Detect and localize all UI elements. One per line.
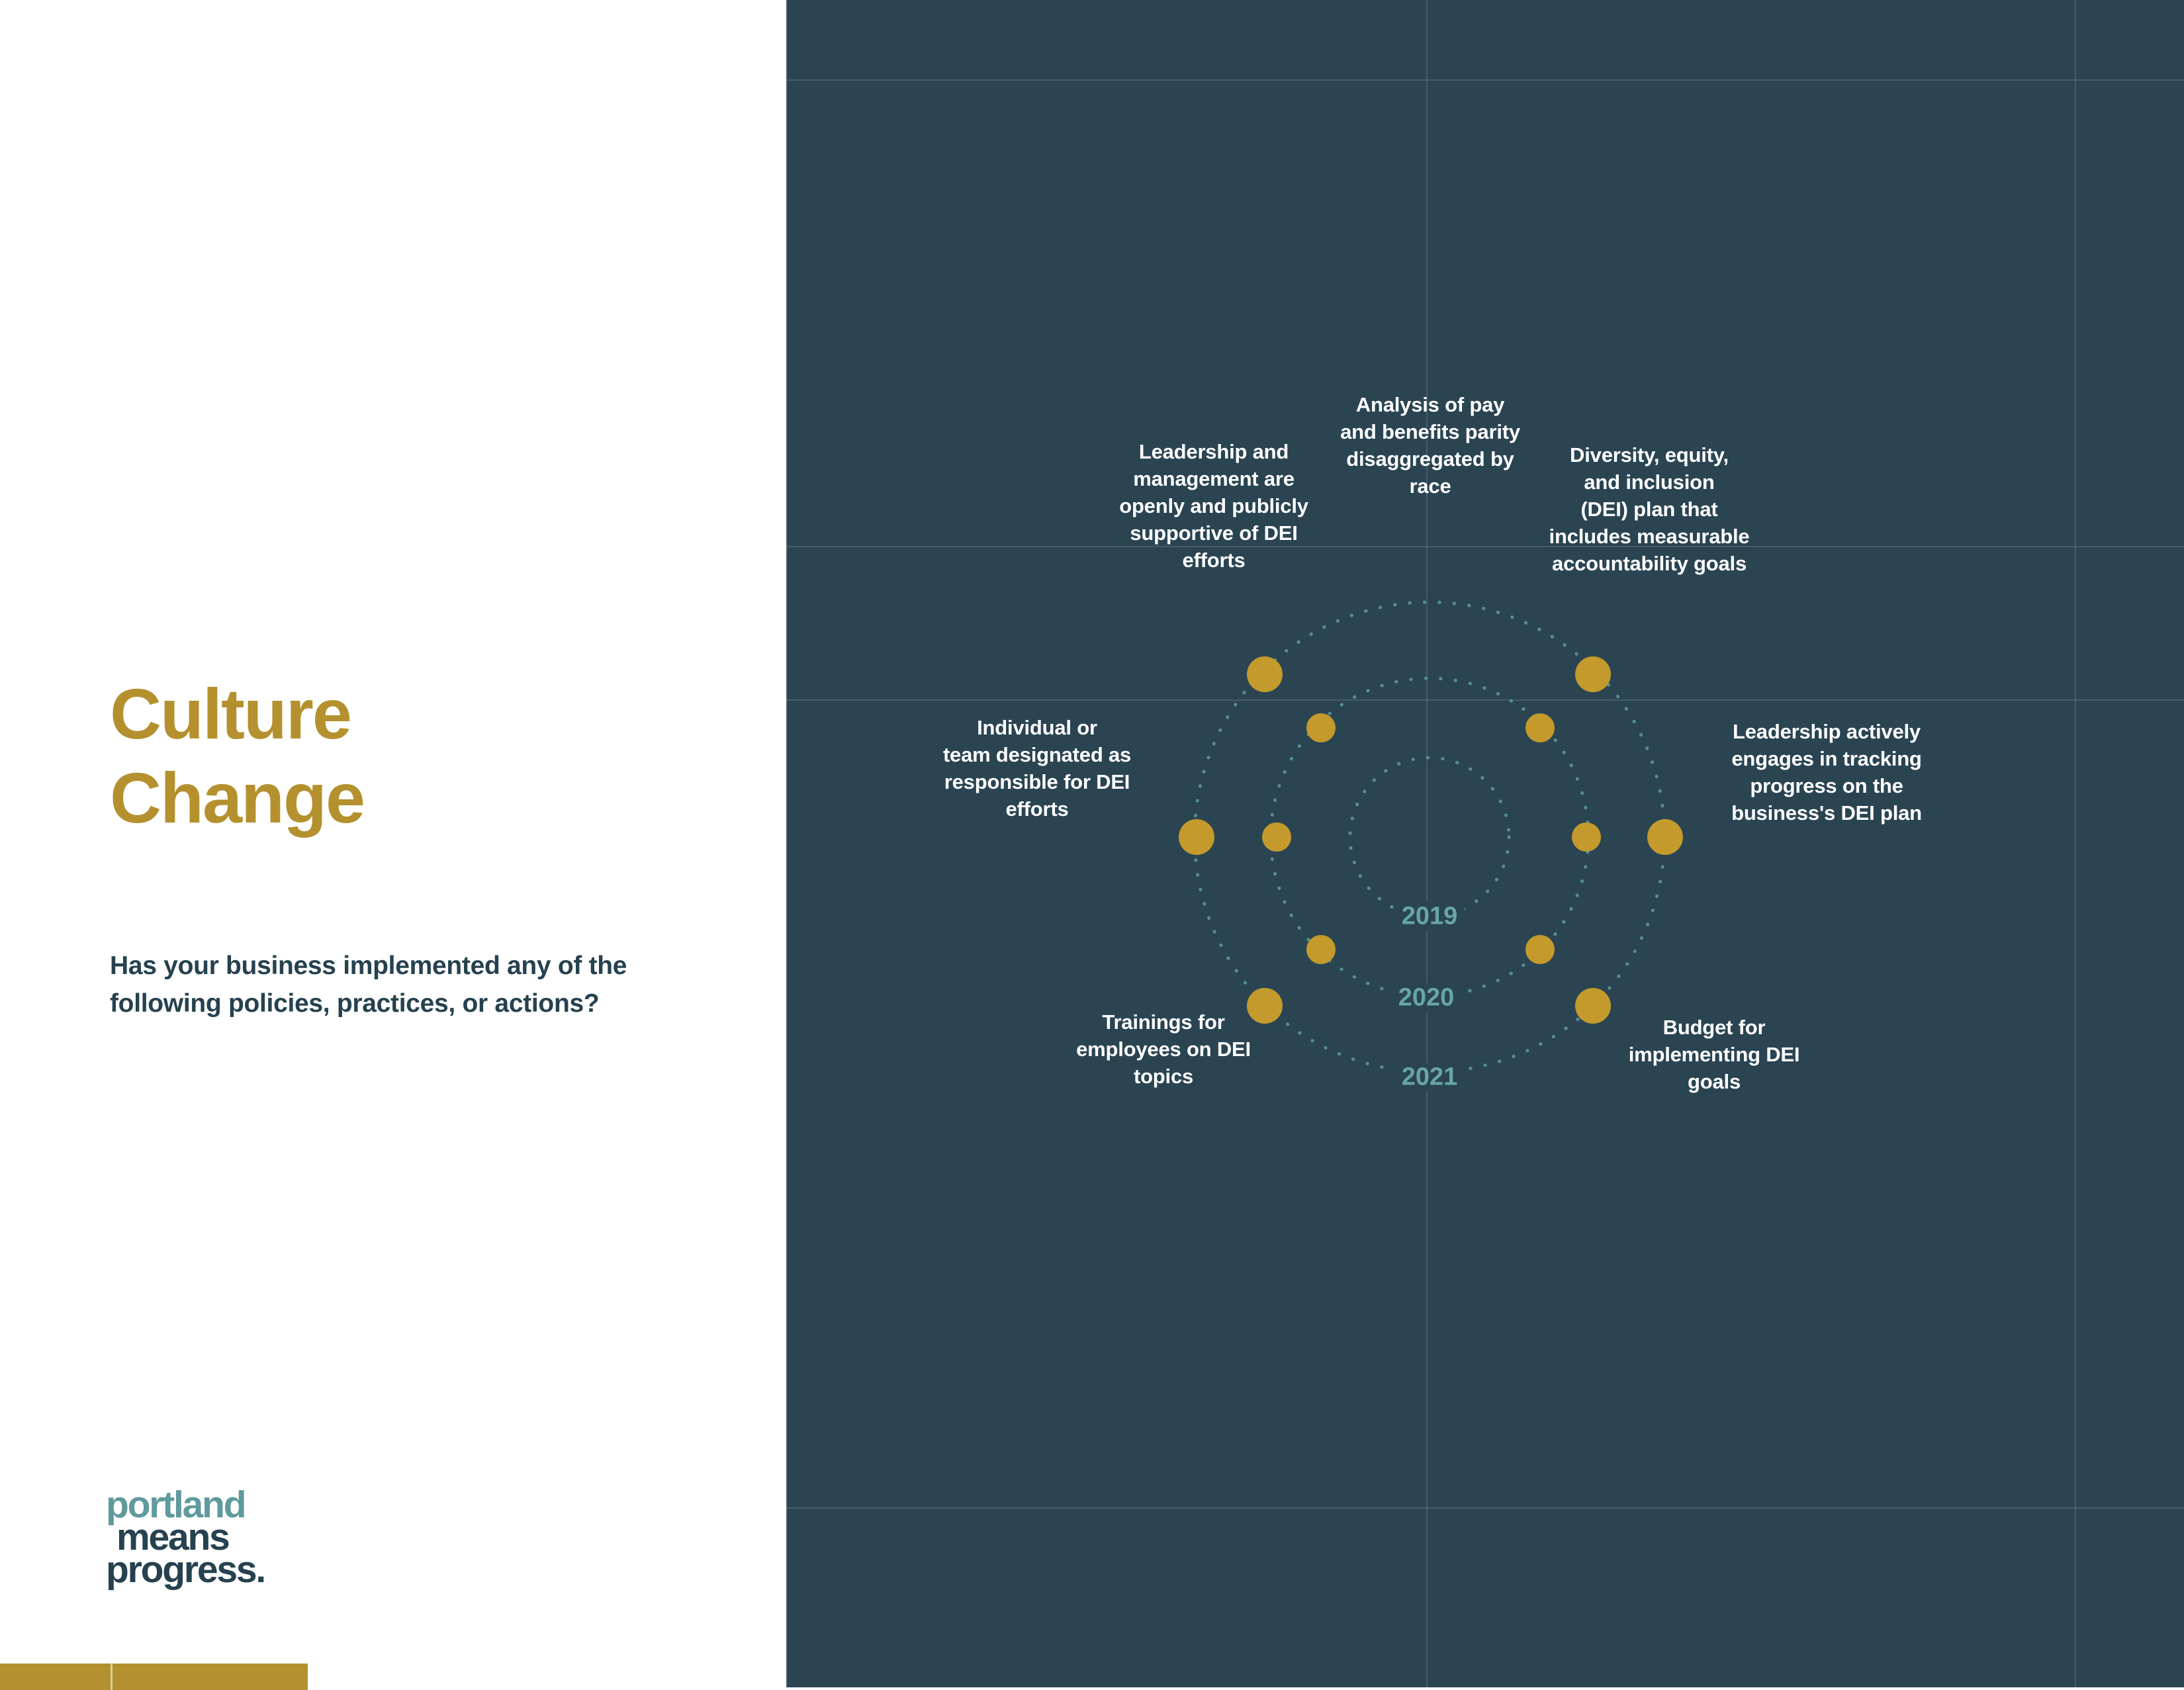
radar-axis-label-line: topics (1044, 1063, 1283, 1090)
radar-axis-label-line: includes measurable (1510, 523, 1788, 551)
radar-axis-label-line: engages in tracking (1688, 746, 1966, 773)
radar-axis-label: Budget forimplementing DEIgoals (1595, 1014, 1833, 1096)
radar-ring-2019 (1350, 758, 1509, 916)
radar-data-point[interactable] (1247, 656, 1283, 692)
radar-data-point[interactable] (1306, 713, 1336, 742)
radar-axis-label-line: management are (1081, 466, 1346, 493)
ring-year-label-2020: 2020 (1392, 984, 1461, 1012)
radar-data-point[interactable] (1179, 819, 1214, 855)
radar-chart: 201920202021 Analysis of payand benefits… (786, 0, 2184, 1687)
left-panel: Culture Change Has your business impleme… (0, 0, 786, 1687)
radar-data-point[interactable] (1575, 656, 1611, 692)
radar-axis-label-line: Analysis of pay (1304, 392, 1556, 419)
radar-axis-label-line: goals (1595, 1069, 1833, 1096)
radar-data-point[interactable] (1262, 823, 1291, 852)
footer-accent-bar-divider (111, 1664, 113, 1690)
radar-axis-label-line: Individual or (901, 715, 1173, 742)
page-title-line-1: Culture (110, 672, 639, 756)
radar-axis-label: Leadership andmanagement areopenly and p… (1081, 439, 1346, 574)
radar-axis-label: Leadership activelyengages in trackingpr… (1688, 719, 1966, 827)
radar-axis-label-line: efforts (901, 796, 1173, 823)
footer-accent-bar (0, 1664, 308, 1690)
radar-axis-label-line: responsible for DEI (901, 769, 1173, 796)
radar-axis-label: Diversity, equity,and inclusion(DEI) pla… (1510, 442, 1788, 578)
page-subtitle: Has your business implemented any of the… (110, 948, 705, 1022)
radar-axis-label-line: progress on the (1688, 773, 1966, 800)
radar-axis-label-line: Leadership and (1081, 439, 1346, 466)
page-title-line-2: Change (110, 756, 639, 840)
chart-panel: 201920202021 Analysis of payand benefits… (786, 0, 2184, 1687)
radar-axis-label-line: Trainings for (1044, 1009, 1283, 1036)
page-title: Culture Change (110, 672, 639, 840)
radar-axis-label-line: business's DEI plan (1688, 800, 1966, 827)
radar-axis-label-line: supportive of DEI (1081, 520, 1346, 547)
radar-data-point[interactable] (1572, 823, 1601, 852)
portland-means-progress-logo: portland means progress. (106, 1489, 331, 1586)
radar-axis-label-line: Budget for (1595, 1014, 1833, 1042)
radar-axis-label-line: Diversity, equity, (1510, 442, 1788, 469)
radar-axis-label-line: efforts (1081, 547, 1346, 574)
radar-axis-label: Individual orteam designated asresponsib… (901, 715, 1173, 823)
radar-axis-label-line: (DEI) plan that (1510, 496, 1788, 523)
radar-axis-label-line: employees on DEI (1044, 1036, 1283, 1063)
ring-year-label-2019: 2019 (1395, 903, 1465, 931)
radar-axis-label-line: Leadership actively (1688, 719, 1966, 746)
radar-axis-label-line: team designated as (901, 742, 1173, 769)
radar-axis-label-line: openly and publicly (1081, 493, 1346, 520)
ring-year-label-2021: 2021 (1395, 1063, 1465, 1092)
radar-chart-svg (786, 0, 2184, 1687)
radar-axis-label: Trainings foremployees on DEItopics (1044, 1009, 1283, 1090)
radar-axis-label-line: accountability goals (1510, 551, 1788, 578)
radar-data-point[interactable] (1647, 819, 1683, 855)
logo-text-progress: progress. (106, 1554, 331, 1586)
radar-data-point[interactable] (1525, 935, 1555, 964)
radar-axis-label-line: implementing DEI (1595, 1042, 1833, 1069)
radar-axis-label-line: and inclusion (1510, 469, 1788, 496)
radar-data-point[interactable] (1525, 713, 1555, 742)
radar-data-point[interactable] (1306, 935, 1336, 964)
